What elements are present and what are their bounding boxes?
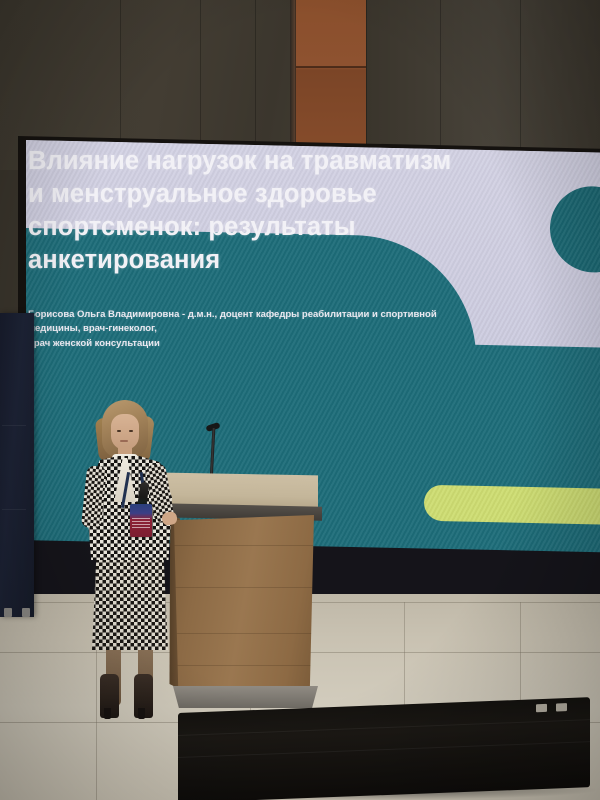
boot-heel xyxy=(138,708,145,719)
slide-subtitle-line: Борисова Ольга Владимировна - д.м.н., до… xyxy=(28,308,528,322)
roll-up-banner xyxy=(0,313,34,617)
equipment-seam xyxy=(178,719,590,736)
presentation-photo: Влияние нагрузок на травматизм и менстру… xyxy=(0,0,600,800)
slide-title-line: Влияние нагрузок на травматизм xyxy=(28,145,498,178)
banner-foot xyxy=(22,608,30,617)
equipment-seam xyxy=(178,741,590,758)
equipment-label xyxy=(536,704,547,712)
slide-decor-pill xyxy=(424,485,600,526)
speaker xyxy=(80,400,200,720)
foreground-equipment xyxy=(178,697,590,800)
eye xyxy=(117,430,121,432)
skirt xyxy=(92,552,168,650)
mouth xyxy=(120,440,128,442)
conference-badge xyxy=(130,504,152,537)
banner-detail xyxy=(2,509,26,510)
copper-wall-panel xyxy=(296,0,366,152)
slide-title-line: спортсменок: результаты xyxy=(28,211,498,244)
equipment-label xyxy=(556,703,567,711)
boot-heel xyxy=(104,708,111,719)
banner-foot xyxy=(4,608,12,617)
face xyxy=(111,414,139,450)
slide-title-line: и менструальное здоровье xyxy=(28,178,498,211)
wall-seam xyxy=(520,0,521,170)
slide-subtitle: Борисова Ольга Владимировна - д.м.н., до… xyxy=(28,308,528,351)
hand-gesturing xyxy=(161,511,178,527)
floor-grout-line xyxy=(520,602,521,702)
banner-detail xyxy=(2,425,26,426)
wall-panel-right xyxy=(366,0,600,156)
eye xyxy=(129,430,133,432)
slide-subtitle-line: врач женской консультации xyxy=(28,337,528,351)
badge-text xyxy=(132,518,150,528)
slide-subtitle-line: медицины, врач-гинеколог, xyxy=(28,322,528,336)
slide-title: Влияние нагрузок на травматизм и менстру… xyxy=(28,145,498,278)
slide-title-line: анкетирования xyxy=(28,244,498,277)
